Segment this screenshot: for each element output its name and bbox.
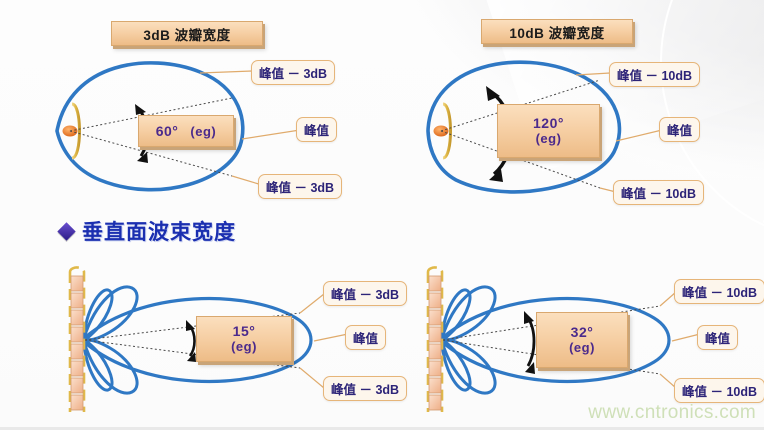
bottom-left-upper-label: 峰值 － 3dB: [323, 281, 407, 306]
bottom-left-angle-note: (eg): [231, 340, 257, 355]
top-right-angle-value: 120°: [533, 115, 564, 131]
top-right-angle-note: (eg): [536, 132, 562, 147]
top-left-angle-value: 60°: [156, 123, 179, 139]
bottom-right-angle-note: (eg): [569, 341, 595, 356]
bottom-left-angle-box: 15° (eg): [196, 316, 292, 362]
top-right-antenna: [423, 98, 451, 164]
bottom-right-antenna: [428, 268, 442, 413]
top-left-title-plate: 3dB 波瓣宽度: [111, 21, 263, 46]
bottom-left-antenna: [70, 268, 84, 413]
bottom-left-peak-label: 峰值: [345, 325, 386, 350]
top-left-angle-note: (eg): [190, 125, 216, 140]
top-left-antenna: [52, 98, 80, 164]
bottom-right-lower-label: 峰值 － 10dB: [674, 378, 764, 403]
bottom-left-leader-lines: [300, 294, 348, 388]
section-heading-text: 垂直面波束宽度: [82, 216, 236, 246]
bottom-right-upper-label: 峰值 － 10dB: [674, 279, 764, 304]
top-right-peak-label: 峰值: [659, 117, 700, 142]
top-left-angle-box: 60° (eg): [138, 115, 234, 147]
bottom-right-peak-label: 峰值: [697, 325, 738, 350]
top-left-lower-label: 峰值 － 3dB: [258, 174, 342, 199]
bottom-left-lower-label: 峰值 － 3dB: [323, 376, 407, 401]
section-heading: 垂直面波束宽度: [60, 216, 236, 246]
slide-canvas: 3dB 波瓣宽度 峰值 － 3dB 峰值 峰值 － 3dB 60° (eg) 1…: [0, 0, 764, 430]
top-right-angle-box: 120° (eg): [497, 104, 600, 158]
diamond-bullet-icon: [57, 222, 75, 240]
bottom-left-angle-value: 15°: [233, 323, 256, 339]
top-left-upper-label: 峰值 － 3dB: [251, 60, 335, 85]
bottom-right-leader-lines: [660, 292, 700, 388]
bottom-right-angle-value: 32°: [571, 324, 594, 340]
top-left-peak-label: 峰值: [296, 117, 337, 142]
top-right-title-plate: 10dB 波瓣宽度: [481, 19, 633, 44]
site-watermark: www.cntronics.com: [588, 402, 756, 424]
top-right-upper-label: 峰值 － 10dB: [609, 62, 700, 87]
top-right-lower-label: 峰值 － 10dB: [613, 180, 704, 205]
bottom-right-angle-box: 32° (eg): [536, 312, 628, 368]
